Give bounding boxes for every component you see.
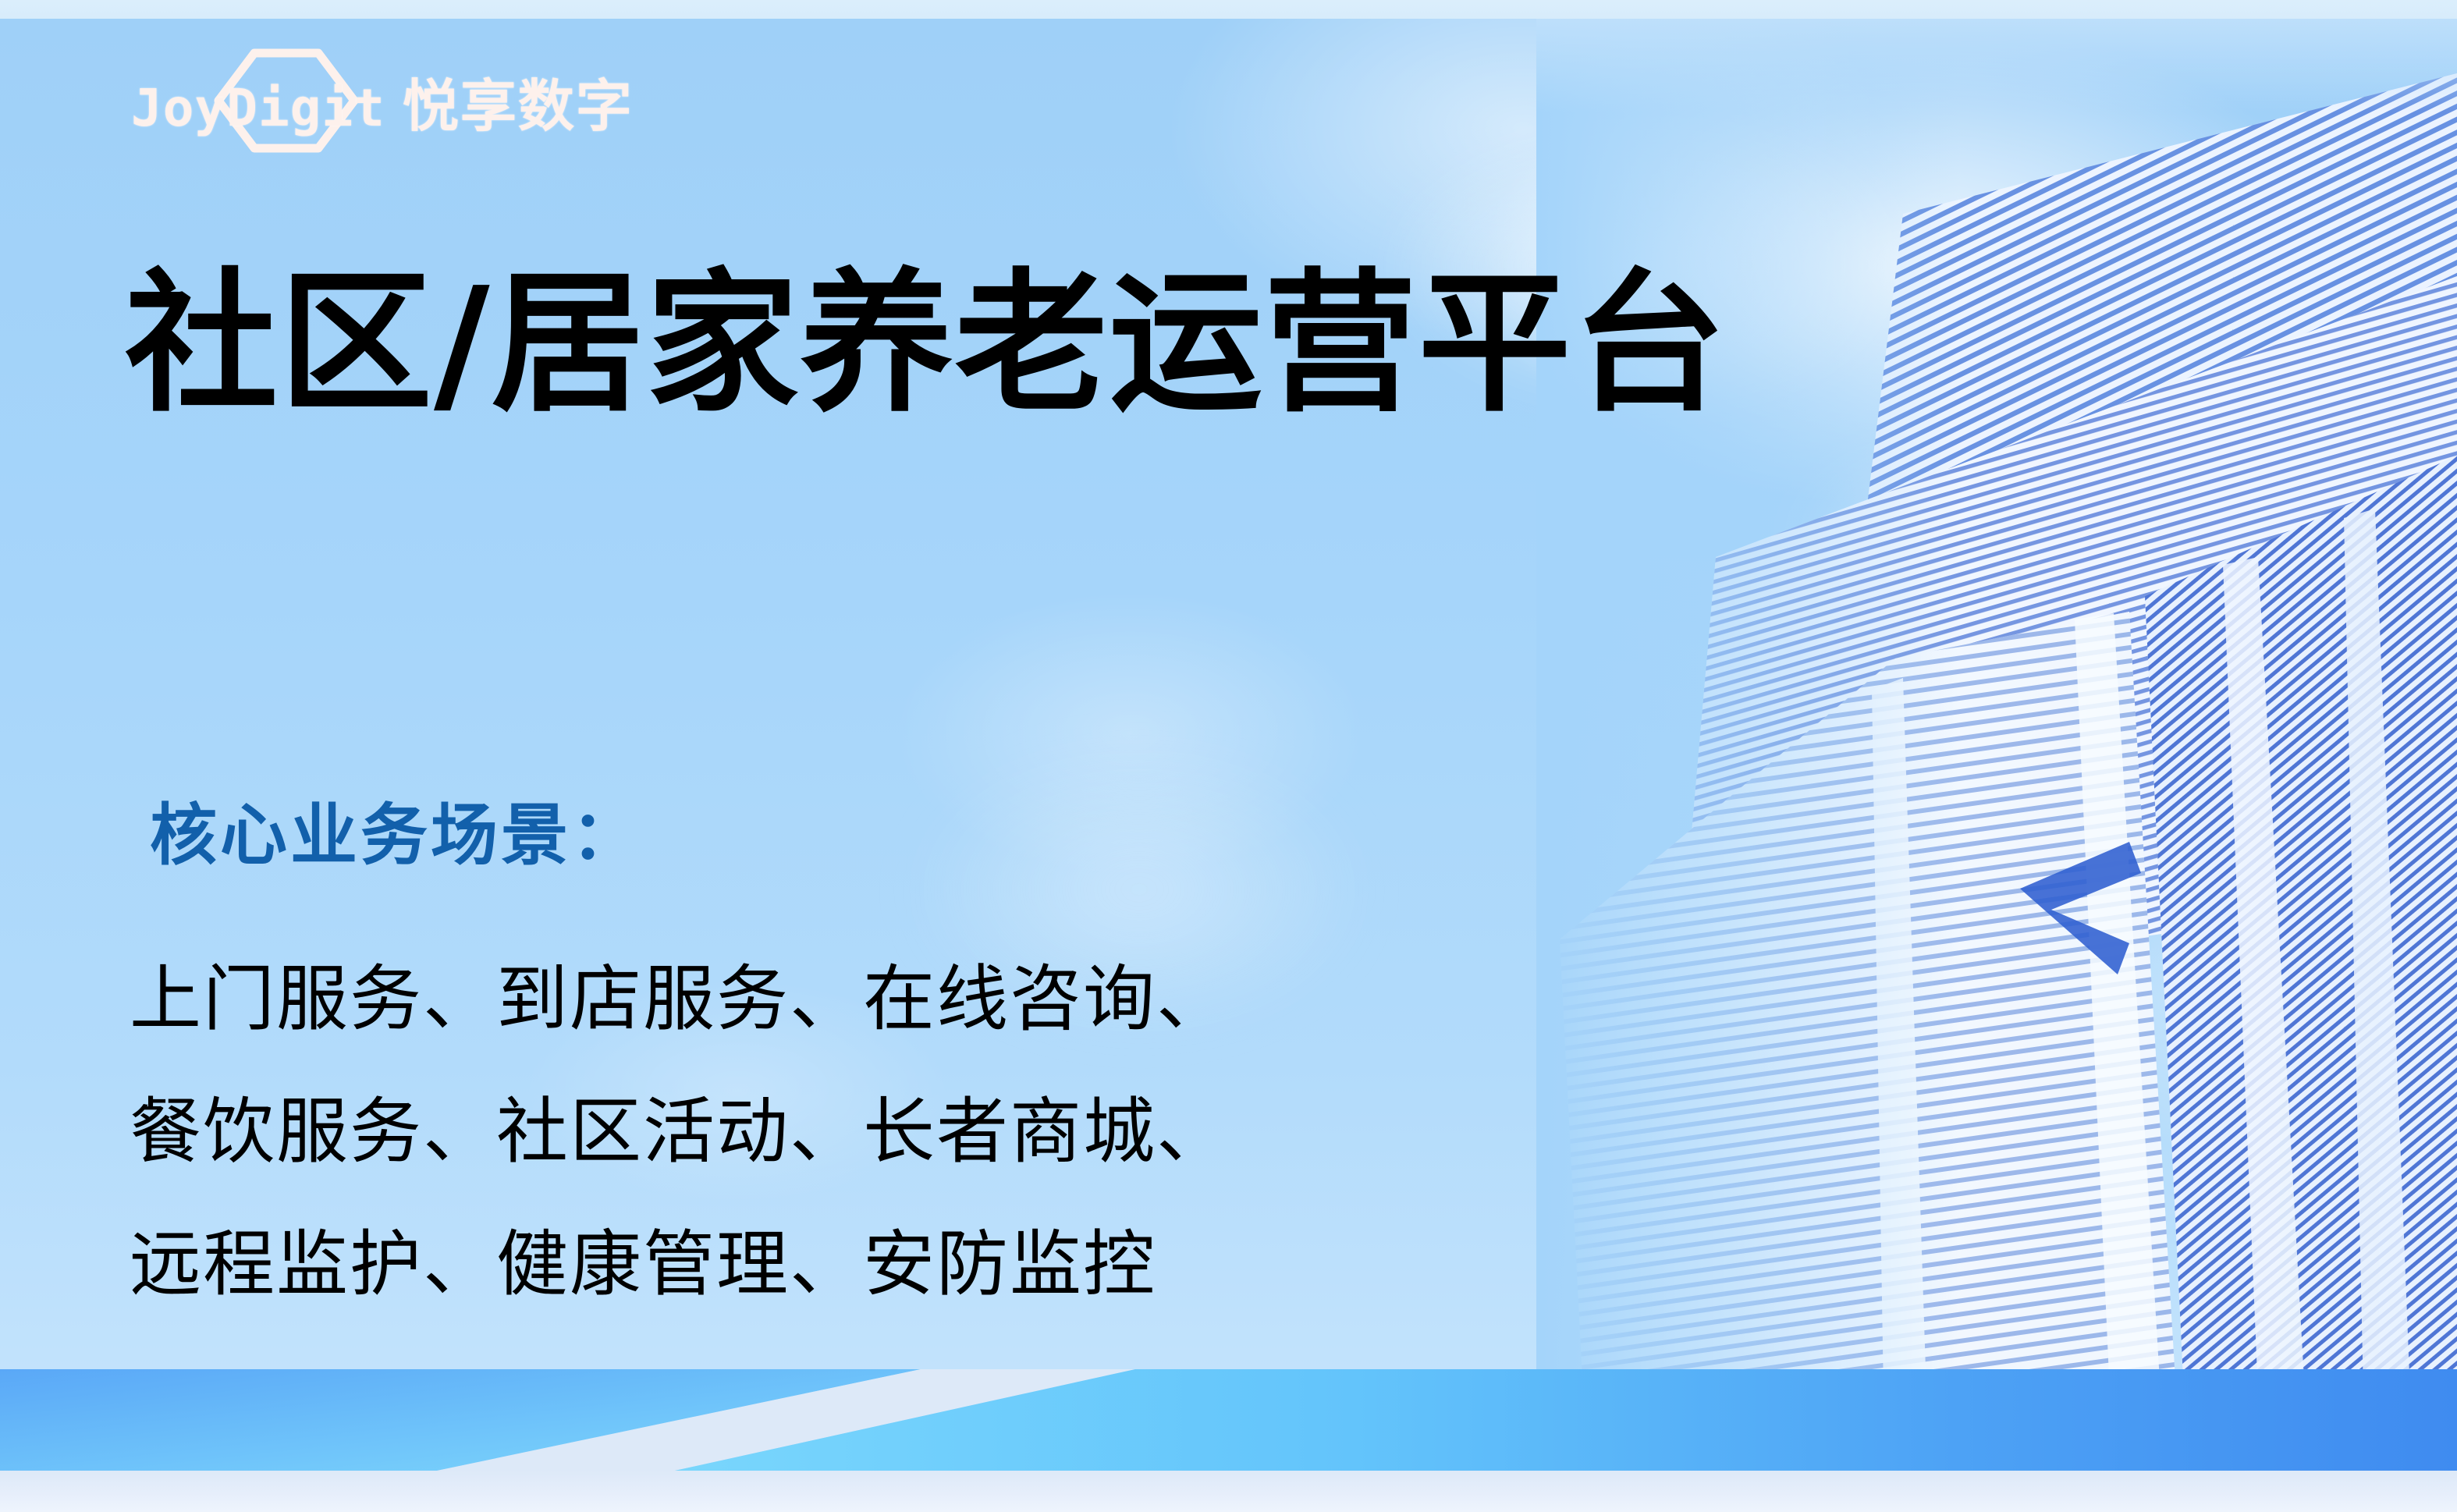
section-heading: 核心业务场景： — [150, 780, 641, 878]
skyscraper-photo — [1536, 19, 2457, 1393]
page-title: 社区/居家养老运营平台 — [125, 262, 1727, 428]
scene-line: 餐饮服务、社区活动、长者商城、 — [130, 1066, 1230, 1198]
scene-list: 上门服务、到店服务、在线咨询、 餐饮服务、社区活动、长者商城、 远程监护、健康管… — [130, 933, 1230, 1332]
scene-line: 上门服务、到店服务、在线咨询、 — [130, 933, 1230, 1066]
footer-strip — [0, 1471, 2457, 1512]
brand-logo[interactable]: JoyDigit 悦享数字 — [131, 58, 634, 144]
brand-logo-en: JoyDigit — [131, 78, 385, 138]
brand-logo-text: JoyDigit 悦享数字 — [131, 60, 634, 142]
skyscraper-illustration — [1536, 19, 2457, 1393]
brand-logo-cn: 悦享数字 — [403, 60, 634, 142]
scene-line: 远程监护、健康管理、安防监控 — [130, 1198, 1230, 1331]
angled-ribbon-band — [0, 1369, 2457, 1471]
slide-canvas: JoyDigit 悦享数字 社区/居家养老运营平台 核心业务场景： 上门服务、到… — [0, 0, 2457, 1512]
top-accent-strip — [0, 0, 2457, 19]
